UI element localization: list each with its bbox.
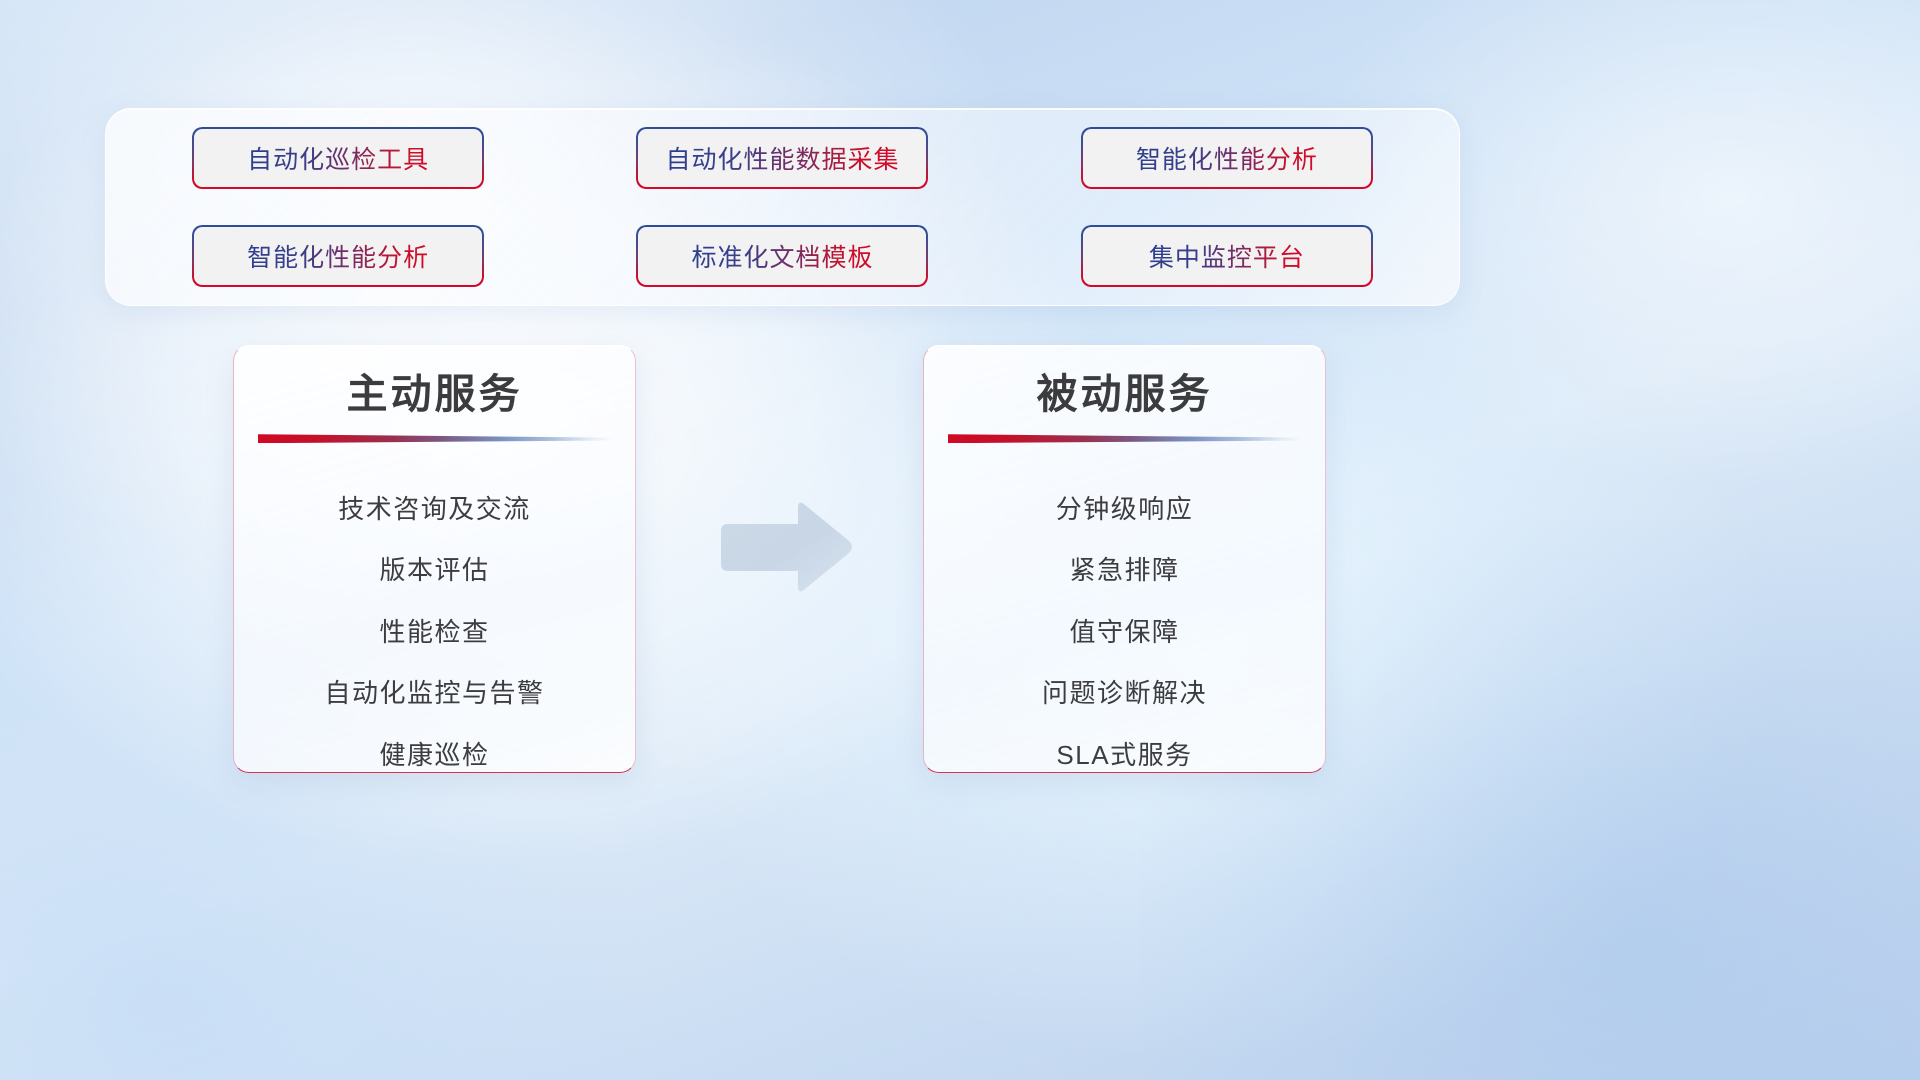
service-card-reactive: 被动服务 分钟级响应 紧急排障 值守保障 问题诊断解决 SLA式服务 <box>923 345 1326 773</box>
divider-gradient-bar <box>258 434 613 443</box>
slide-canvas: 自动化巡检工具 自动化性能数据采集 智能化性能分析 智能化性能分析 标准化文档模… <box>0 0 1920 1080</box>
capability-pill-label: 智能化性能分析 <box>247 238 429 274</box>
card-title: 主动服务 <box>234 370 635 419</box>
card-title: 被动服务 <box>924 370 1325 419</box>
capability-pill-label: 自动化巡检工具 <box>247 140 429 176</box>
list-item: 值守保障 <box>1069 601 1179 663</box>
capability-pill[interactable]: 智能化性能分析 <box>1081 127 1373 189</box>
capability-pill[interactable]: 智能化性能分析 <box>192 225 484 287</box>
card-item-list: 技术咨询及交流 版本评估 性能检查 自动化监控与告警 健康巡检 <box>234 478 635 786</box>
list-item: 技术咨询及交流 <box>338 478 531 540</box>
capability-pill[interactable]: 标准化文档模板 <box>636 225 928 287</box>
card-item-list: 分钟级响应 紧急排障 值守保障 问题诊断解决 SLA式服务 <box>924 478 1325 786</box>
capability-pill[interactable]: 自动化巡检工具 <box>192 127 484 189</box>
list-item: 版本评估 <box>379 540 489 602</box>
capability-pill-label: 集中监控平台 <box>1149 238 1305 274</box>
list-item: 紧急排障 <box>1069 540 1179 602</box>
capability-panel: 自动化巡检工具 自动化性能数据采集 智能化性能分析 智能化性能分析 标准化文档模… <box>105 108 1460 306</box>
capability-pill-label: 自动化性能数据采集 <box>665 140 899 176</box>
list-item: 问题诊断解决 <box>1042 663 1207 725</box>
list-item: SLA式服务 <box>1056 724 1192 786</box>
capability-pill[interactable]: 自动化性能数据采集 <box>636 127 928 189</box>
capability-pill-label: 智能化性能分析 <box>1136 140 1318 176</box>
service-card-proactive: 主动服务 技术咨询及交流 版本评估 性能检查 自动化监控与告警 健康巡检 <box>233 345 636 773</box>
list-item: 分钟级响应 <box>1056 478 1194 540</box>
list-item: 健康巡检 <box>379 724 489 786</box>
card-divider <box>948 432 1303 448</box>
capability-pill[interactable]: 集中监控平台 <box>1081 225 1373 287</box>
capability-pill-label: 标准化文档模板 <box>691 238 873 274</box>
divider-gradient-bar <box>948 434 1303 443</box>
list-item: 性能检查 <box>379 601 489 663</box>
list-item: 自动化监控与告警 <box>324 663 544 725</box>
card-divider <box>258 432 613 448</box>
right-arrow-icon <box>713 495 858 600</box>
